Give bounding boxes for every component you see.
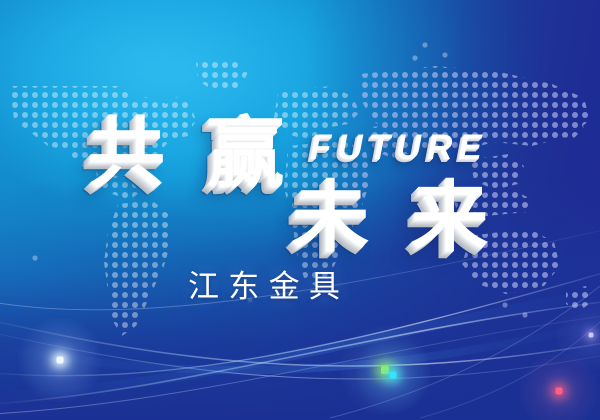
headline-secondary: 未 来 — [292, 180, 496, 257]
headline-block: 共 赢 FUTURE 未 来 江东金具 — [0, 0, 600, 420]
brand-name: 江东金具 — [188, 272, 349, 303]
promo-banner: 共 赢 FUTURE 未 来 江东金具 — [0, 0, 600, 420]
headline-primary: 共 赢 — [88, 116, 292, 193]
headline-english: FUTURE — [310, 130, 488, 165]
